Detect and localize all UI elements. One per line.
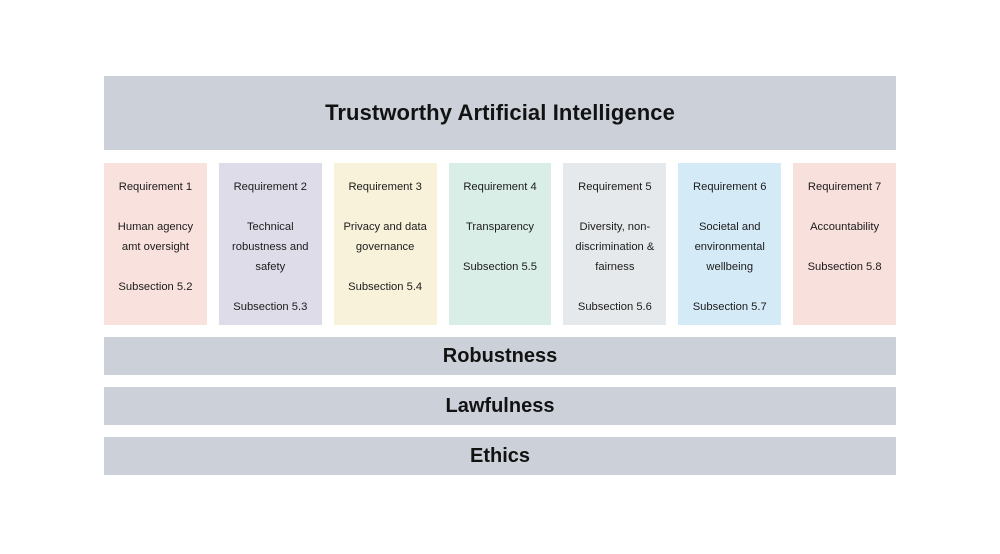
requirement-name-line: Accountability bbox=[801, 217, 888, 237]
requirement-name-line: Privacy and data bbox=[342, 217, 429, 237]
requirement-name-line: Human agency bbox=[112, 217, 199, 237]
requirement-index-label: Requirement 3 bbox=[342, 177, 429, 197]
requirement-card-3[interactable]: Requirement 3 Privacy and data governanc… bbox=[334, 163, 437, 325]
foundation-bar-label: Ethics bbox=[470, 445, 530, 468]
requirement-name-line: amt oversight bbox=[112, 237, 199, 257]
requirement-name-line: Technical bbox=[227, 217, 314, 237]
requirement-name-line: Societal and bbox=[686, 217, 773, 237]
requirement-name-line: fairness bbox=[571, 257, 658, 277]
requirement-card-6[interactable]: Requirement 6 Societal and environmental… bbox=[678, 163, 781, 325]
requirement-subsection: Subsection 5.7 bbox=[686, 297, 773, 317]
trustworthy-ai-diagram: Trustworthy Artificial Intelligence Requ… bbox=[104, 76, 896, 475]
requirement-name-line: wellbeing bbox=[686, 257, 773, 277]
requirement-name-line: robustness and bbox=[227, 237, 314, 257]
requirement-name-line: Transparency bbox=[457, 217, 544, 237]
requirement-name-line: Diversity, non- bbox=[571, 217, 658, 237]
requirement-card-2[interactable]: Requirement 2 Technical robustness and s… bbox=[219, 163, 322, 325]
requirement-subsection: Subsection 5.8 bbox=[801, 257, 888, 277]
requirement-subsection: Subsection 5.3 bbox=[227, 297, 314, 317]
requirement-name-line: governance bbox=[342, 237, 429, 257]
requirement-name-line: discrimination & bbox=[571, 237, 658, 257]
requirement-index-label: Requirement 4 bbox=[457, 177, 544, 197]
requirement-card-7[interactable]: Requirement 7 Accountability Subsection … bbox=[793, 163, 896, 325]
requirement-subsection: Subsection 5.4 bbox=[342, 277, 429, 297]
diagram-banner: Trustworthy Artificial Intelligence bbox=[104, 76, 896, 150]
diagram-title: Trustworthy Artificial Intelligence bbox=[325, 100, 675, 126]
requirement-index-label: Requirement 1 bbox=[112, 177, 199, 197]
requirement-card-5[interactable]: Requirement 5 Diversity, non- discrimina… bbox=[563, 163, 666, 325]
foundation-bar-lawfulness: Lawfulness bbox=[104, 387, 896, 425]
requirement-index-label: Requirement 7 bbox=[801, 177, 888, 197]
requirement-card-4[interactable]: Requirement 4 Transparency Subsection 5.… bbox=[449, 163, 552, 325]
foundation-bar-label: Lawfulness bbox=[446, 395, 555, 418]
requirement-index-label: Requirement 2 bbox=[227, 177, 314, 197]
requirement-subsection: Subsection 5.2 bbox=[112, 277, 199, 297]
requirement-index-label: Requirement 5 bbox=[571, 177, 658, 197]
requirement-name-line: safety bbox=[227, 257, 314, 277]
foundation-bar-label: Robustness bbox=[443, 345, 557, 368]
foundation-bar-ethics: Ethics bbox=[104, 437, 896, 475]
requirements-row: Requirement 1 Human agency amt oversight… bbox=[104, 163, 896, 325]
requirement-card-1[interactable]: Requirement 1 Human agency amt oversight… bbox=[104, 163, 207, 325]
requirement-name-line: environmental bbox=[686, 237, 773, 257]
requirement-index-label: Requirement 6 bbox=[686, 177, 773, 197]
requirement-subsection: Subsection 5.6 bbox=[571, 297, 658, 317]
foundation-bar-robustness: Robustness bbox=[104, 337, 896, 375]
requirement-subsection: Subsection 5.5 bbox=[457, 257, 544, 277]
